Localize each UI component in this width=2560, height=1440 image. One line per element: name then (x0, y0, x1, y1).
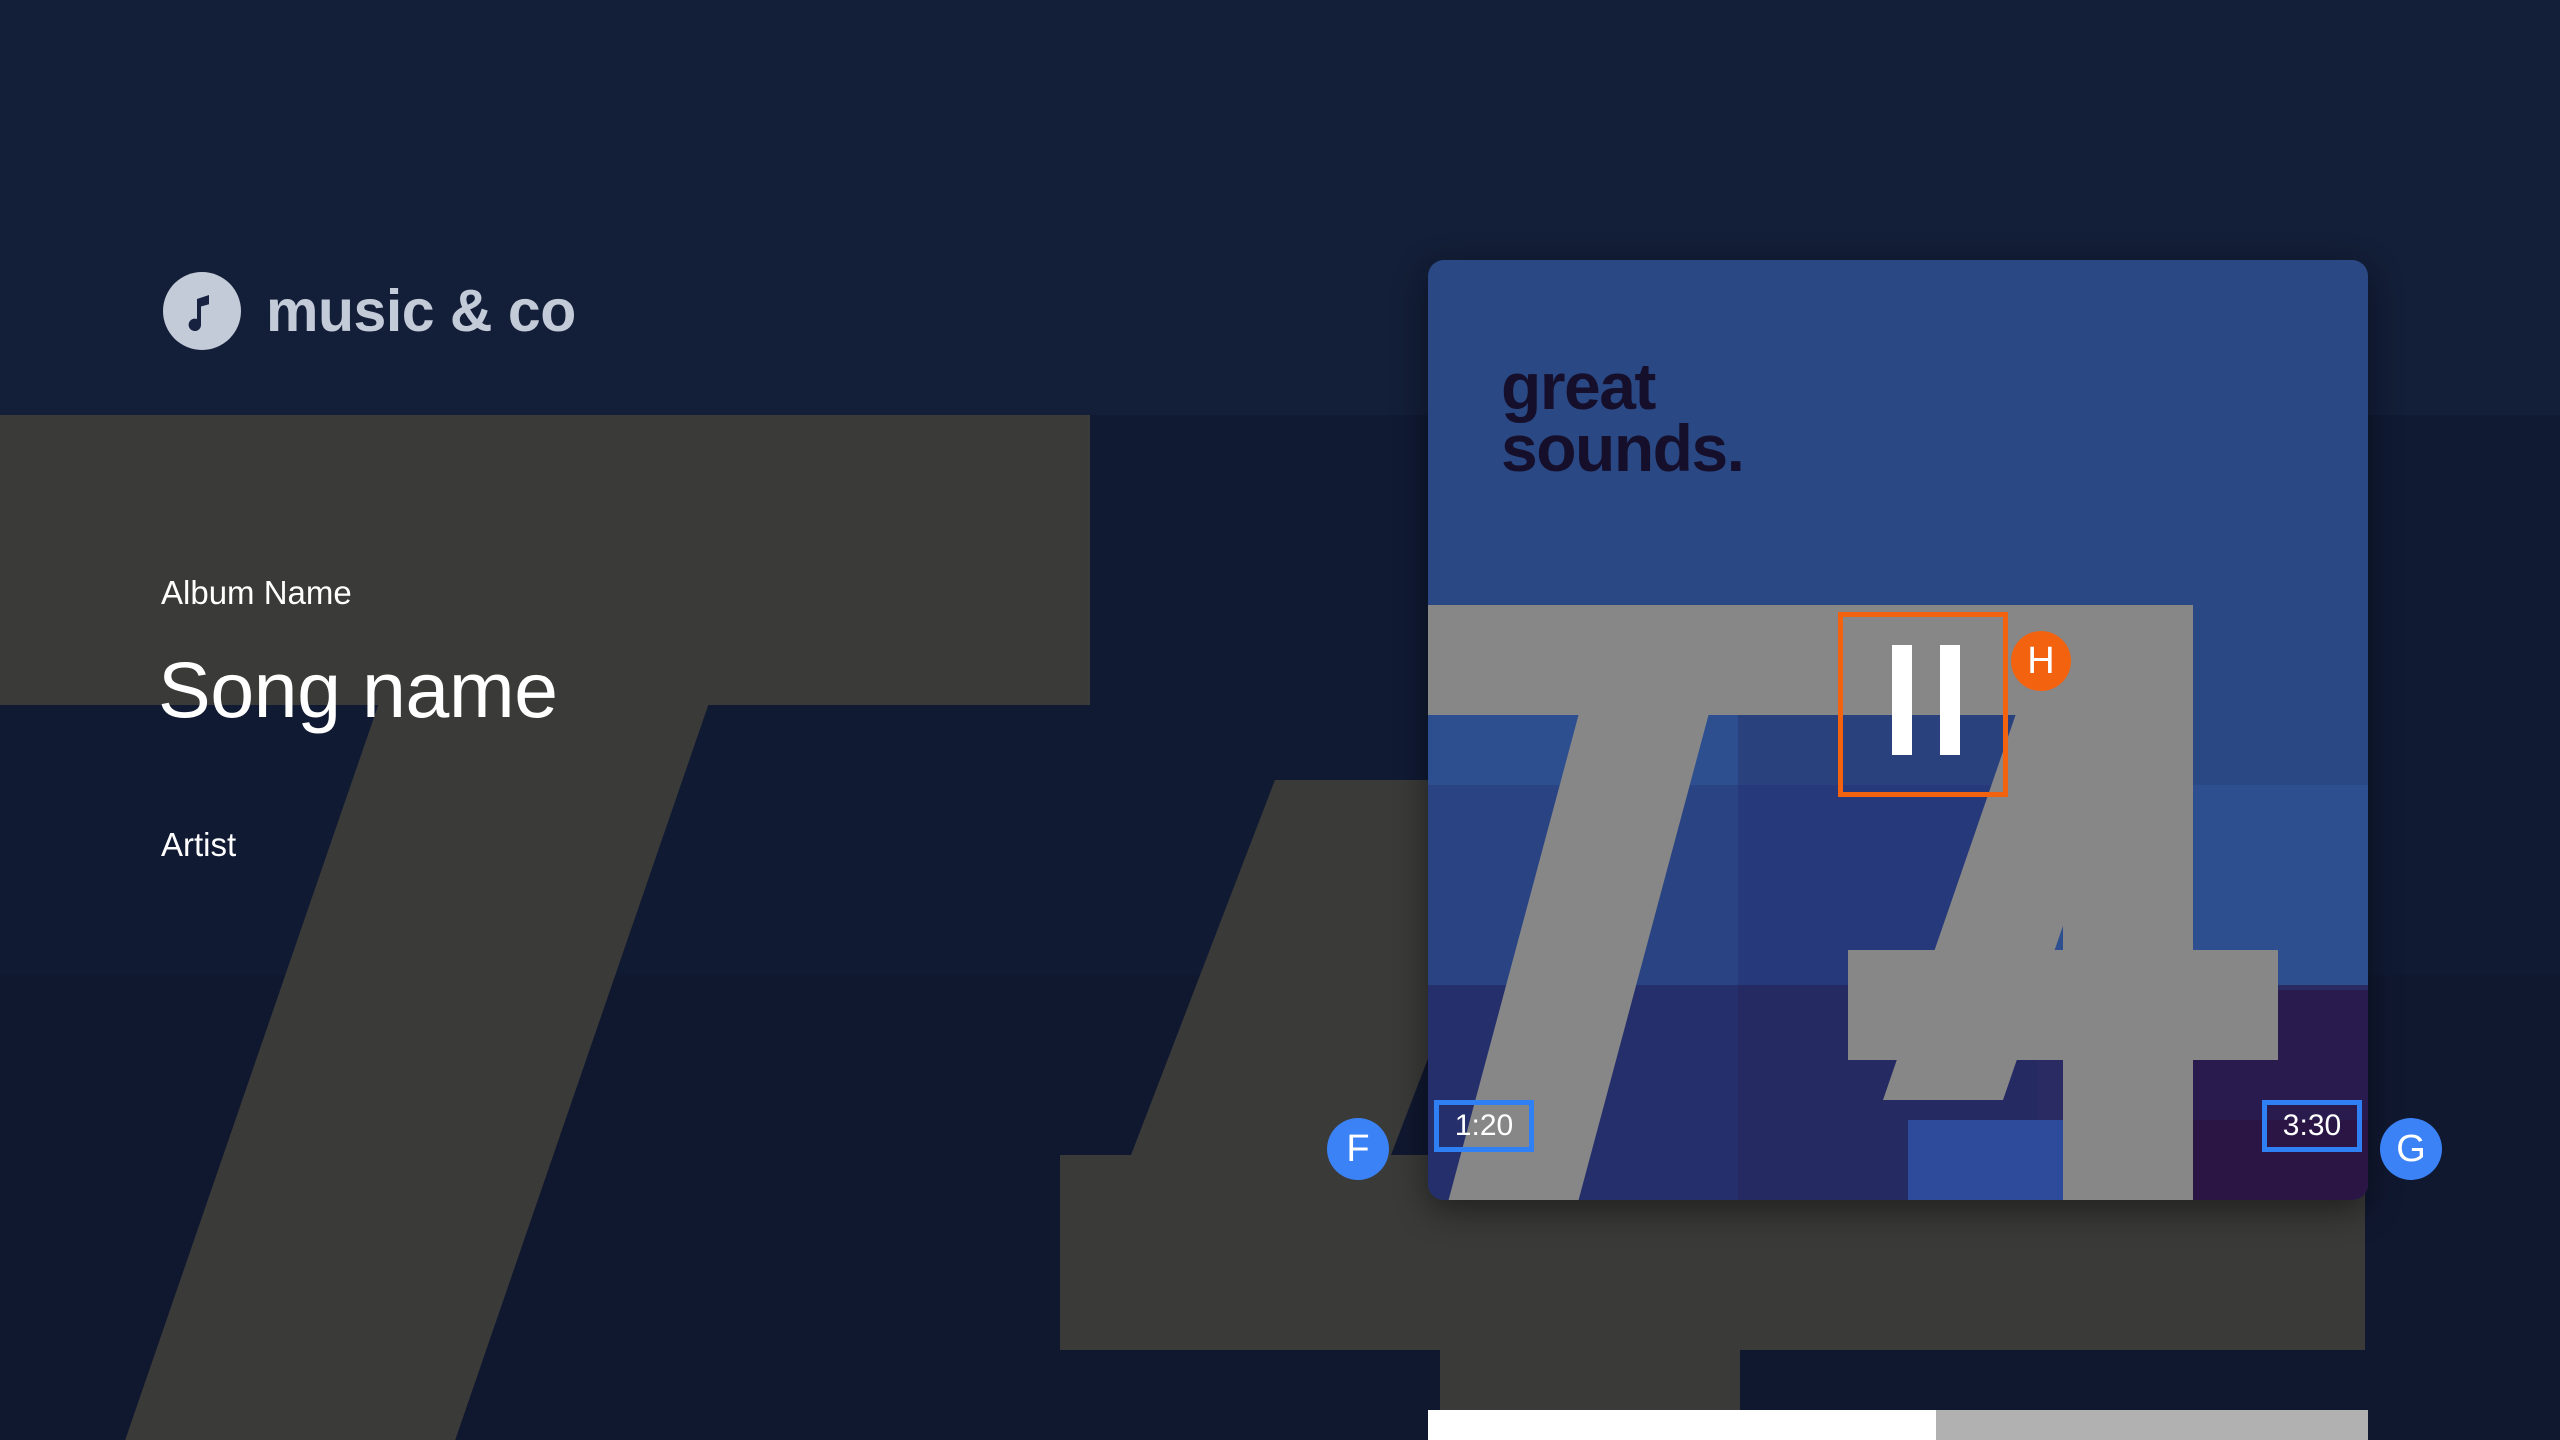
annotation-badge-f: F (1327, 1118, 1389, 1180)
annotation-badge-h: H (2011, 631, 2071, 691)
player-page: music & co Album Name Song name Artist g… (0, 0, 2560, 1440)
artist-name-label: Artist (161, 828, 236, 861)
album-cover-text: great sounds. (1501, 355, 1744, 479)
progress-bar-track[interactable] (1428, 1410, 2368, 1440)
brand-logo[interactable]: music & co (163, 272, 576, 350)
song-title: Song name (158, 650, 558, 729)
current-time-label: 1:20 (1434, 1100, 1534, 1152)
total-time-label: 3:30 (2262, 1100, 2362, 1152)
art-four-stem (2063, 605, 2193, 1200)
highlight-box-pause-button (1838, 612, 2008, 797)
progress-bar-fill (1428, 1410, 1936, 1440)
art-four-crossbar (1848, 950, 2278, 1060)
brand-name: music & co (266, 282, 576, 341)
album-name-label: Album Name (161, 576, 352, 609)
album-art-tile (1908, 1120, 2088, 1200)
annotation-badge-g: G (2380, 1118, 2442, 1180)
music-note-icon (163, 272, 241, 350)
